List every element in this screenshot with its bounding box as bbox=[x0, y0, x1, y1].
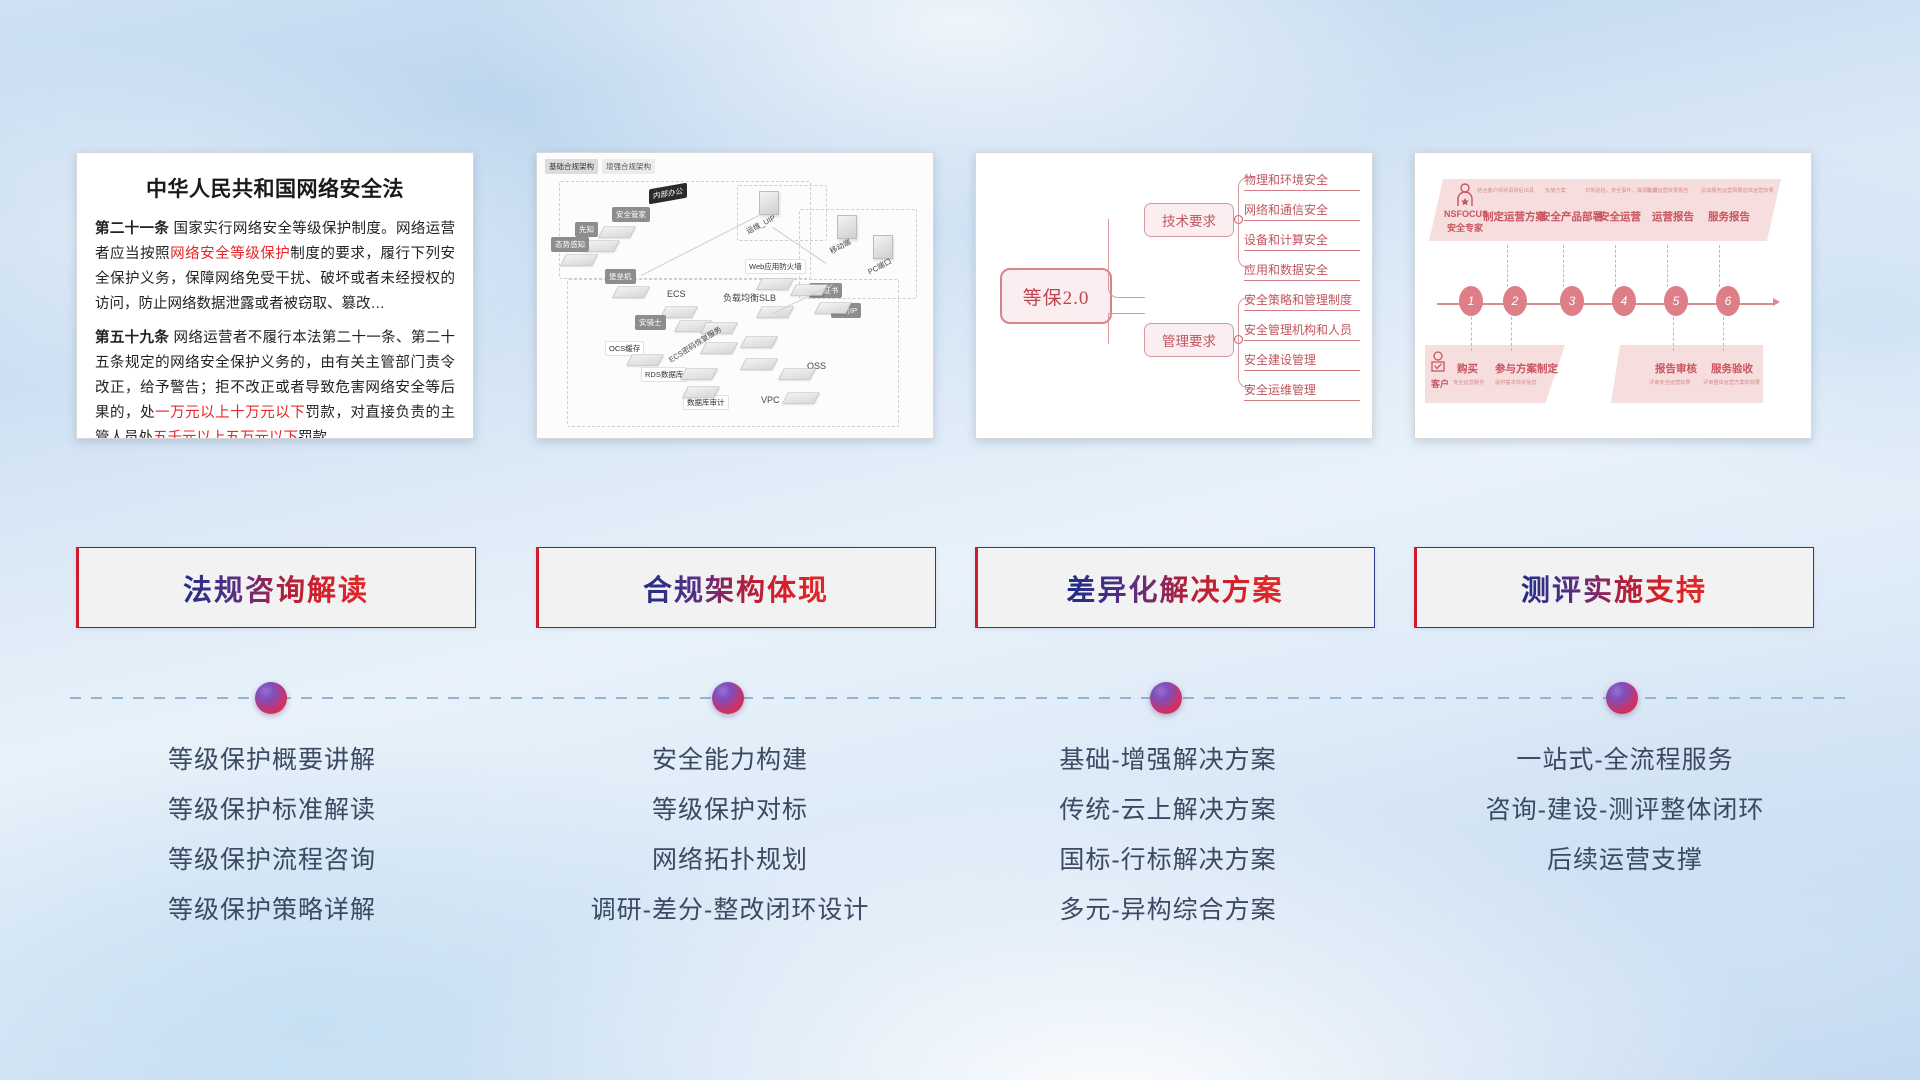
timeline-node-4[interactable]: 4 bbox=[1612, 286, 1636, 316]
customer-role-label: 客户 bbox=[1431, 377, 1449, 390]
timeline-rail bbox=[70, 697, 1850, 699]
timeline-node-1[interactable]: 1 bbox=[1459, 286, 1483, 316]
top-step-5-caption: 总体服务运营周期总体运营效果 bbox=[1701, 187, 1774, 194]
top-step-4-caption: 阶段运营效果报告 bbox=[1647, 187, 1689, 194]
list-item: 后续运营支撑 bbox=[1395, 835, 1855, 885]
timeline-node-6[interactable]: 6 bbox=[1716, 286, 1740, 316]
top-step-2-caption: 实施方案 bbox=[1545, 187, 1566, 194]
mindmap-edge-mgmt bbox=[1108, 313, 1145, 344]
bottom-step-3-title: 报告审核 bbox=[1655, 361, 1697, 376]
architecture-label-rds: RDS数据库 bbox=[641, 367, 687, 382]
list-item: 国标-行标解决方案 bbox=[938, 835, 1398, 885]
timeline-node-3[interactable]: 3 bbox=[1560, 286, 1584, 316]
top-step-4-title: 运营报告 bbox=[1652, 209, 1694, 224]
bottom-step-1-caption: 安全运营服务 bbox=[1453, 379, 1484, 386]
bottom-step-4-caption: 评审整体运营方案和效果 bbox=[1703, 379, 1760, 386]
law-article-21: 第二十一条 国家实行网络安全等级保护制度。网络运营者应当按照网络安全等级保护制度… bbox=[95, 217, 455, 317]
architecture-label-waf: Web应用防火墙 bbox=[745, 259, 806, 274]
timeline-node-2[interactable]: 2 bbox=[1503, 286, 1527, 316]
bottom-step-3-caption: 评审安全运营效果 bbox=[1649, 379, 1691, 386]
law-article-21-label: 第二十一条 bbox=[95, 221, 169, 237]
list-item: 一站式-全流程服务 bbox=[1395, 735, 1855, 785]
tick-b3 bbox=[1673, 317, 1674, 351]
image-card-row: 中华人民共和国网络安全法 第二十一条 国家实行网络安全等级保护制度。网络运营者应… bbox=[0, 0, 1920, 440]
card-cybersecurity-law[interactable]: 中华人民共和国网络安全法 第二十一条 国家实行网络安全等级保护制度。网络运营者应… bbox=[76, 152, 474, 439]
list-item: 调研-差分-整改闭环设计 bbox=[500, 885, 960, 935]
architecture-node-ecs bbox=[660, 306, 698, 317]
list-item: 等级保护流程咨询 bbox=[42, 835, 502, 885]
mindmap: 等保2.0 技术要求 管理要求 物理和环境安全 网络和通信安全 设备和计算安全 … bbox=[976, 153, 1372, 438]
law-article-59: 第五十九条 网络运营者不履行本法第二十一条、第二十五条规定的网络安全保护义务的，… bbox=[95, 326, 455, 439]
list-item: 网络拓扑规划 bbox=[500, 835, 960, 885]
list-item: 多元-异构综合方案 bbox=[938, 885, 1398, 935]
tick-5 bbox=[1667, 245, 1668, 287]
mindmap-branch-mgmt: 管理要求 bbox=[1144, 323, 1234, 357]
list-item: 基础-增强解决方案 bbox=[938, 735, 1398, 785]
detail-column-2: 安全能力构建 等级保护对标 网络拓扑规划 调研-差分-整改闭环设计 bbox=[500, 735, 960, 935]
expert-person-icon bbox=[1455, 183, 1475, 207]
card-nsfocus-service-timeline[interactable]: NSFOCUS 安全专家 结合客户现状调研后出具 制定运营方案 实施方案 安全产… bbox=[1414, 152, 1812, 439]
headline-box-assessment-support[interactable]: 测评实施支持 bbox=[1414, 547, 1814, 628]
timeline-bullet-4[interactable] bbox=[1606, 682, 1638, 714]
architecture-tab-basic[interactable]: 基础合规架构 bbox=[545, 159, 598, 174]
timeline-bullet-3[interactable] bbox=[1150, 682, 1182, 714]
mindmap-leaf-device: 设备和计算安全 bbox=[1244, 231, 1360, 251]
slide-root: 中华人民共和国网络安全法 第二十一条 国家实行网络安全等级保护制度。网络运营者应… bbox=[0, 0, 1920, 1080]
timeline-bullet-1[interactable] bbox=[255, 682, 287, 714]
architecture-label-ecs: ECS bbox=[667, 289, 686, 299]
bottom-step-1-title: 购买 bbox=[1457, 361, 1478, 376]
bottom-step-2-title: 参与方案制定 bbox=[1495, 361, 1558, 376]
law-article-59-label: 第五十九条 bbox=[95, 330, 169, 346]
nsfocus-timeline: NSFOCUS 安全专家 结合客户现状调研后出具 制定运营方案 实施方案 安全产… bbox=[1415, 153, 1811, 438]
tick-6 bbox=[1719, 245, 1720, 287]
architecture-node-ecs-4 bbox=[740, 336, 778, 347]
architecture-node-oss bbox=[778, 368, 816, 379]
mindmap-leaf-operation: 安全运维管理 bbox=[1244, 381, 1360, 401]
mindmap-root: 等保2.0 bbox=[1000, 268, 1112, 324]
architecture-label-bastion: 堡垒机 bbox=[605, 269, 636, 284]
timeline-arrow-icon bbox=[1773, 298, 1780, 306]
law-article-59-highlight-1: 一万元以上十万元以下 bbox=[155, 405, 305, 421]
top-step-2-title: 安全产品部署 bbox=[1540, 209, 1603, 224]
architecture-diagram: 基础合规架构 增强合规架构 内部办公 安全管家 先知 态势感知 堡垒机 运维_U… bbox=[537, 153, 933, 438]
architecture-label-vpc: VPC bbox=[761, 395, 780, 405]
top-step-3-title: 安全运营 bbox=[1599, 209, 1641, 224]
mindmap-leaf-physical: 物理和环境安全 bbox=[1244, 171, 1360, 191]
headline-label-3: 差异化解决方案 bbox=[1066, 567, 1283, 609]
headline-label-4: 测评实施支持 bbox=[1521, 567, 1707, 609]
tick-b1 bbox=[1471, 317, 1472, 351]
architecture-label-xianzhi: 先知 bbox=[575, 222, 598, 237]
architecture-node-rds bbox=[680, 368, 718, 379]
architecture-node-situation bbox=[560, 254, 598, 265]
list-item: 等级保护策略详解 bbox=[42, 885, 502, 935]
architecture-node-butler bbox=[598, 226, 636, 237]
architecture-label-security-butler: 安全管家 bbox=[612, 207, 650, 222]
timeline-node-5[interactable]: 5 bbox=[1664, 286, 1688, 316]
mindmap-branch-tech: 技术要求 bbox=[1144, 203, 1234, 237]
mindmap-edge-tech bbox=[1108, 219, 1145, 298]
architecture-node-vpc bbox=[782, 392, 820, 403]
list-item: 等级保护对标 bbox=[500, 785, 960, 835]
law-article-59-text-3: 罚款。 bbox=[298, 430, 342, 439]
headline-box-regulation-consulting[interactable]: 法规咨询解读 bbox=[76, 547, 476, 628]
architecture-node-bastion bbox=[612, 286, 650, 297]
expert-role-line1: NSFOCUS bbox=[1444, 209, 1488, 219]
tick-2 bbox=[1507, 245, 1508, 287]
architecture-tabs: 基础合规架构 增强合规架构 bbox=[545, 159, 655, 174]
expert-role-line2: 安全专家 bbox=[1447, 221, 1483, 234]
architecture-node-pc bbox=[873, 235, 893, 259]
headline-box-differentiated-solution[interactable]: 差异化解决方案 bbox=[975, 547, 1375, 628]
top-step-1-title: 制定运营方案 bbox=[1483, 209, 1546, 224]
architecture-node-db-audit bbox=[682, 386, 720, 397]
architecture-node-ecs-5 bbox=[740, 358, 778, 369]
top-step-1-caption: 结合客户现状调研后出具 bbox=[1477, 187, 1534, 194]
headline-box-compliance-architecture[interactable]: 合规架构体现 bbox=[536, 547, 936, 628]
list-item: 安全能力构建 bbox=[500, 735, 960, 785]
customer-person-icon bbox=[1429, 351, 1447, 373]
detail-column-4: 一站式-全流程服务 咨询-建设-测评整体闭环 后续运营支撑 bbox=[1395, 735, 1855, 885]
detail-column-3: 基础-增强解决方案 传统-云上解决方案 国标-行标解决方案 多元-异构综合方案 bbox=[938, 735, 1398, 935]
detail-column-1: 等级保护概要讲解 等级保护标准解读 等级保护流程咨询 等级保护策略详解 bbox=[42, 735, 502, 935]
mindmap-leaf-application: 应用和数据安全 bbox=[1244, 261, 1360, 281]
law-article-21-highlight: 网络安全等级保护 bbox=[170, 246, 290, 262]
architecture-label-situation-awareness: 态势感知 bbox=[551, 237, 589, 252]
architecture-node-mobile bbox=[837, 215, 857, 239]
law-title: 中华人民共和国网络安全法 bbox=[95, 173, 455, 203]
card-compliance-architecture[interactable]: 基础合规架构 增强合规架构 内部办公 安全管家 先知 态势感知 堡垒机 运维_U… bbox=[536, 152, 934, 439]
mindmap-leaf-policy: 安全策略和管理制度 bbox=[1244, 291, 1360, 311]
headline-label-2: 合规架构体现 bbox=[643, 567, 829, 609]
tick-b2 bbox=[1511, 317, 1512, 351]
architecture-node-uip bbox=[759, 191, 779, 215]
list-item: 等级保护概要讲解 bbox=[42, 735, 502, 785]
tick-b4 bbox=[1723, 317, 1724, 351]
law-article-59-highlight-2: 五千元以上五万元以下 bbox=[153, 430, 298, 439]
architecture-node-ocs bbox=[626, 354, 664, 365]
headline-label-1: 法规咨询解读 bbox=[183, 567, 369, 609]
mindmap-leaf-construction: 安全建设管理 bbox=[1244, 351, 1360, 371]
bottom-step-2-caption: 提供基本现状信息 bbox=[1495, 379, 1537, 386]
tick-4 bbox=[1615, 245, 1616, 287]
list-item: 传统-云上解决方案 bbox=[938, 785, 1398, 835]
mindmap-leaf-network: 网络和通信安全 bbox=[1244, 201, 1360, 221]
bottom-step-4-title: 服务验收 bbox=[1711, 361, 1753, 376]
list-item: 等级保护标准解读 bbox=[42, 785, 502, 835]
architecture-label-anqishi: 安骑士 bbox=[635, 315, 666, 330]
timeline-bullet-2[interactable] bbox=[712, 682, 744, 714]
tick-3 bbox=[1563, 245, 1564, 287]
architecture-node-waf bbox=[756, 278, 794, 289]
architecture-node-anti-ddos bbox=[814, 302, 852, 313]
list-item: 咨询-建设-测评整体闭环 bbox=[1395, 785, 1855, 835]
mindmap-leaf-org: 安全管理机构和人员 bbox=[1244, 321, 1360, 341]
architecture-tab-enhanced[interactable]: 增强合规架构 bbox=[602, 159, 655, 174]
card-mindmap-dengbao[interactable]: 等保2.0 技术要求 管理要求 物理和环境安全 网络和通信安全 设备和计算安全 … bbox=[975, 152, 1373, 439]
top-step-5-title: 服务报告 bbox=[1708, 209, 1750, 224]
law-card-body: 中华人民共和国网络安全法 第二十一条 国家实行网络安全等级保护制度。网络运营者应… bbox=[77, 153, 473, 438]
